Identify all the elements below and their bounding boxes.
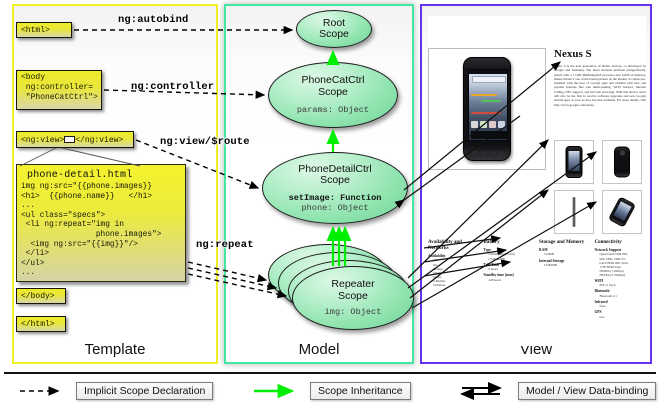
spec-value: 512MB: [539, 252, 591, 256]
thumbnail-nexus-s-back[interactable]: [602, 140, 642, 184]
note-title: phone-detail.html: [17, 165, 185, 183]
phone-screen-bar-1: [471, 94, 497, 96]
panel-label-template: Template: [14, 341, 216, 358]
phone-screen: [468, 69, 508, 141]
phone-hardware-buttons: [472, 151, 504, 157]
thumbnail-nexus-s-side[interactable]: [554, 190, 594, 234]
edge-label-ng-controller: ng:controller: [131, 81, 214, 93]
phone-search-widget: [472, 76, 506, 83]
ng-view-open-tag: <ng:view>: [21, 136, 64, 145]
view-rendered-page: Nexus S Nexus S is the next generation o…: [428, 16, 646, 346]
scope-root-title-line2: Scope: [319, 29, 349, 41]
thumbnail-angle-image: [608, 196, 636, 227]
spec-value: Bluetooth 2.1: [595, 294, 647, 298]
legend-divider: [4, 372, 656, 374]
scope-repeater-title-line1: Repeater: [331, 279, 374, 291]
code-html-close-tag: </html>: [16, 316, 66, 332]
scope-root: Root Scope: [296, 10, 372, 48]
phone-hero-image-frame: [428, 48, 546, 170]
spec-value: 428 hours: [484, 278, 536, 282]
scope-phonedetailctrl-prop-phone: phone: Object: [301, 203, 368, 213]
legend-item-scope-inheritance: Scope Inheritance: [252, 382, 411, 400]
diagram-root: Template Model View <html> <body ng:cont…: [0, 0, 660, 420]
code-body-controller: <body ng:controller= "PhoneCatCtrl">: [16, 70, 102, 110]
scope-phonecatctrl-title-line2: Scope: [301, 87, 364, 99]
thumbnail-nexus-s-angle[interactable]: [602, 190, 642, 234]
scope-repeater-prop-img: img: Object: [325, 307, 382, 317]
phone-statusbar: [469, 70, 507, 74]
spec-heading: Connectivity: [595, 240, 647, 246]
code-body-close-tag: </body>: [16, 288, 66, 304]
phone-detail-html-note: phone-detail.html img ng:src="{{phone.im…: [16, 164, 186, 282]
thumbnail-back-image: [614, 147, 630, 178]
phone-screen-bar-2: [481, 100, 501, 102]
phone-app-icon-4: [498, 121, 505, 128]
phone-button-home: [490, 151, 496, 155]
phone-dock: [471, 131, 507, 139]
scope-phonedetailctrl: PhoneDetailCtrl Scope setImage: Function…: [262, 152, 408, 224]
spec-value: 16384MB: [539, 263, 591, 267]
scope-phonedetailctrl-prop-setimage: setImage: Function: [289, 193, 382, 203]
legend-label: Implicit Scope Declaration: [76, 382, 213, 400]
legend-item-model-view-databinding: Model / View Data-binding: [460, 382, 656, 400]
legend-green-arrow-icon: [252, 382, 304, 400]
legend-double-arrow-icon: [460, 382, 512, 400]
scope-phonecatctrl: PhoneCatCtrl Scope params: Object: [268, 62, 398, 128]
phone-hero-image: [463, 57, 511, 161]
spec-value: 6 hours: [484, 267, 536, 271]
legend-label: Model / View Data-binding: [518, 382, 656, 400]
phone-button-search: [498, 151, 504, 155]
phone-button-menu: [481, 151, 487, 155]
thumbnail-nexus-s-front[interactable]: [554, 140, 594, 184]
legend-label: Scope Inheritance: [310, 382, 411, 400]
code-html-open-tag: <html>: [16, 22, 72, 38]
spec-heading: Availability and Networks: [428, 240, 480, 252]
phone-app-icon-1: [471, 121, 478, 128]
thumbnail-side-image: [572, 197, 576, 227]
scope-repeater-title-line2: Scope: [331, 291, 374, 303]
spec-value: (1500 mAH): [484, 257, 536, 261]
legend: Implicit Scope Declaration Scope Inherit…: [0, 382, 660, 408]
legend-dashed-arrow-icon: [18, 382, 70, 400]
spec-column-battery: Battery Type Lithium Ion (Li-Ion) (1500 …: [484, 240, 536, 332]
phone-button-back: [472, 151, 478, 155]
edge-label-ng-autobind: ng:autobind: [118, 14, 188, 26]
phone-app-icon-3: [489, 121, 496, 128]
spec-value: true: [595, 315, 647, 319]
spec-value: Vodafone: [428, 283, 480, 287]
scope-phonedetailctrl-title-line2: Scope: [298, 175, 372, 187]
note-code: img ng:src="{{phone.images}} <h1> {{phon…: [17, 183, 185, 279]
scope-phonecatctrl-title-line1: PhoneCatCtrl: [301, 75, 364, 87]
spec-value: false: [595, 304, 647, 308]
edge-label-ng-repeat: ng:repeat: [196, 239, 254, 251]
edge-label-ng-view-route: ng:view/$route: [160, 136, 250, 148]
product-title: Nexus S: [554, 48, 646, 60]
spec-value: HSUPA (5.76Mbps): [595, 273, 647, 277]
spec-heading: Battery: [484, 240, 536, 246]
phone-app-icon-2: [480, 121, 487, 128]
spec-column-connectivity: Connectivity Network Support Quad-band G…: [595, 240, 647, 332]
phone-app-icons: [471, 121, 507, 130]
spec-table: Availability and Networks Availability M…: [428, 240, 646, 332]
spec-column-availability: Availability and Networks Availability M…: [428, 240, 480, 332]
phone-screen-bar-3: [471, 112, 501, 114]
legend-item-implicit-scope-declaration: Implicit Scope Declaration: [18, 382, 213, 400]
ng-view-slot-icon: [64, 136, 75, 143]
product-description: Nexus S is the next generation of Nexus …: [554, 64, 646, 134]
thumbnail-front-image: [566, 146, 583, 178]
ng-view-close-tag: </ng:view>: [75, 136, 123, 145]
spec-heading: Storage and Memory: [539, 240, 591, 246]
code-ng-view-element: <ng:view></ng:view>: [16, 131, 134, 148]
scope-phonecatctrl-prop-params: params: Object: [297, 105, 369, 115]
panel-label-model: Model: [226, 341, 412, 358]
scope-repeater: Repeater Scope img: Object: [292, 266, 414, 330]
spec-value: 802.11 b/g/n: [595, 283, 647, 287]
spec-column-storage: Storage and Memory RAM 512MB Internal St…: [539, 240, 591, 332]
